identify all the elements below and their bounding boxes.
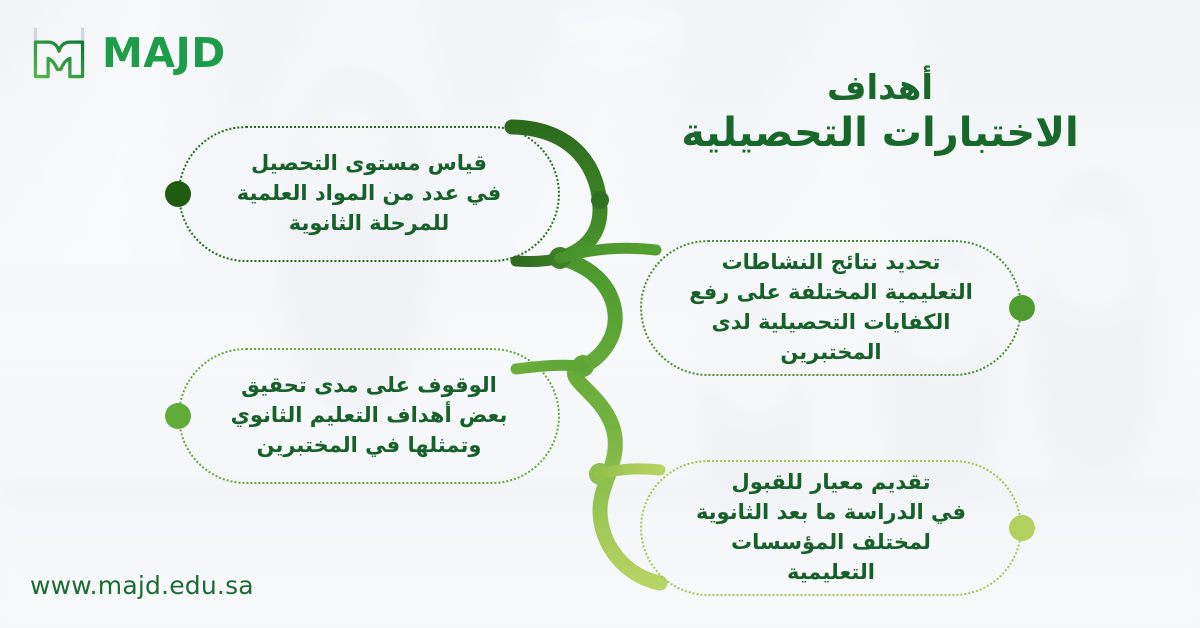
goal-card-1-text: قياس مستوى التحصيل في عدد من المواد العل…	[178, 149, 560, 238]
title-line-2: الاختبارات التحصيلية	[620, 109, 1140, 158]
goal-card-3-text: الوقوف على مدى تحقيق بعض أهداف التعليم ا…	[178, 371, 560, 460]
majd-book-logo-icon	[30, 24, 88, 82]
goal-card-4[interactable]: تقديم معيار للقبول في الدراسة ما بعد الث…	[640, 460, 1022, 596]
infographic-canvas: MAJD أهداف الاختبارات التحصيلية	[0, 0, 1200, 628]
brand-wordmark: MAJD	[102, 29, 226, 77]
goal-card-2[interactable]: تحديد نتائج النشاطات التعليمية المختلفة …	[640, 240, 1022, 376]
website-url[interactable]: www.majd.edu.sa	[30, 571, 254, 600]
page-title: أهداف الاختبارات التحصيلية	[620, 68, 1140, 158]
goal-card-4-text: تقديم معيار للقبول في الدراسة ما بعد الث…	[640, 468, 1022, 587]
goal-card-2-text: تحديد نتائج النشاطات التعليمية المختلفة …	[640, 248, 1022, 367]
brand-logo[interactable]: MAJD	[30, 24, 226, 82]
title-line-1: أهداف	[620, 68, 1140, 109]
goal-card-3[interactable]: الوقوف على مدى تحقيق بعض أهداف التعليم ا…	[178, 348, 560, 484]
goal-card-1[interactable]: قياس مستوى التحصيل في عدد من المواد العل…	[178, 126, 560, 262]
